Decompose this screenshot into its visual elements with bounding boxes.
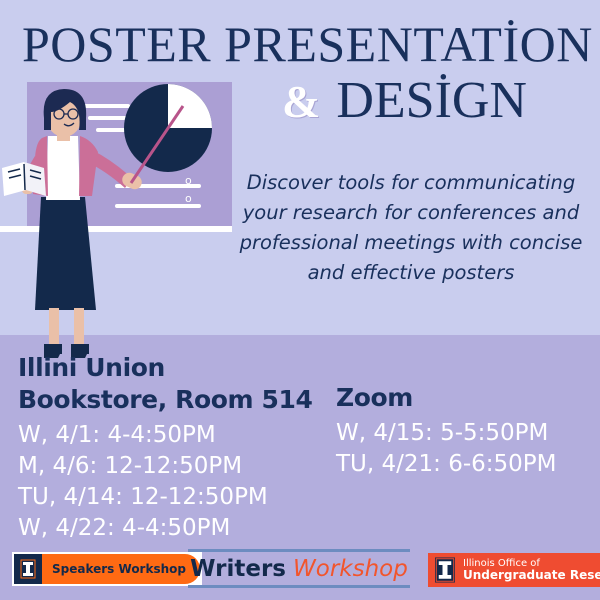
description-text: Discover tools for communicating your re… — [228, 168, 594, 288]
undergraduate-research-wordmark: Illinois Office of Undergraduate Researc… — [463, 558, 600, 583]
schedule-column-zoom: Zoom W, 4/15: 5-5:50PM TU, 4/21: 6-6:50P… — [336, 382, 596, 480]
session-item: TU, 4/21: 6-6:50PM — [336, 449, 596, 480]
venue-title-zoom: Zoom — [336, 382, 596, 414]
session-item: M, 4/6: 12-12:50PM — [18, 451, 338, 482]
ampersand-glyph: & — [282, 76, 320, 127]
page-title-line-1: POSTER PRESENTATİON — [22, 17, 593, 71]
illinois-block-i-icon — [434, 556, 456, 584]
session-list-illini-union: W, 4/1: 4-4:50PM M, 4/6: 12-12:50PM TU, … — [18, 420, 338, 544]
illinois-block-i-icon — [14, 554, 42, 584]
poster-canvas: POSTER PRESENTATİON &DESİGN Discover too… — [0, 0, 600, 600]
writers-word: Writers — [190, 556, 286, 582]
svg-text:o: o — [185, 174, 192, 187]
footer-logo-row: Speakers Workshop WritersWorkshop Illino… — [0, 549, 600, 595]
session-item: TU, 4/14: 12-12:50PM — [18, 482, 338, 513]
venue-title-line-2: Bookstore, Room 514 — [18, 384, 338, 416]
writers-workshop-logo: WritersWorkshop — [188, 549, 410, 588]
iour-line-2: Undergraduate Research — [463, 569, 600, 582]
shirt-icon — [46, 136, 80, 200]
speakers-workshop-logo: Speakers Workshop — [12, 552, 202, 586]
presenter-illustration: o o — [0, 78, 232, 360]
workshop-word: Workshop — [293, 556, 408, 582]
page-title-line-2: &DESİGN — [282, 72, 527, 131]
schedule-column-illini-union: Illini Union Bookstore, Room 514 W, 4/1:… — [18, 352, 338, 544]
session-item: W, 4/22: 4-4:50PM — [18, 513, 338, 544]
page-title-design-word: DESİGN — [336, 72, 527, 129]
undergraduate-research-logo: Illinois Office of Undergraduate Researc… — [428, 553, 600, 587]
speakers-workshop-pill: Speakers Workshop — [14, 554, 200, 584]
session-list-zoom: W, 4/15: 5-5:50PM TU, 4/21: 6-6:50PM — [336, 418, 596, 480]
session-item: W, 4/1: 4-4:50PM — [18, 420, 338, 451]
svg-text:o: o — [185, 192, 192, 205]
session-item: W, 4/15: 5-5:50PM — [336, 418, 596, 449]
speakers-workshop-label: Speakers Workshop — [42, 562, 200, 576]
writers-rule-bottom — [188, 585, 410, 588]
venue-title-line-1: Illini Union — [18, 352, 338, 384]
board-ledge-icon — [0, 226, 232, 232]
writers-workshop-wordmark: WritersWorkshop — [188, 552, 410, 585]
